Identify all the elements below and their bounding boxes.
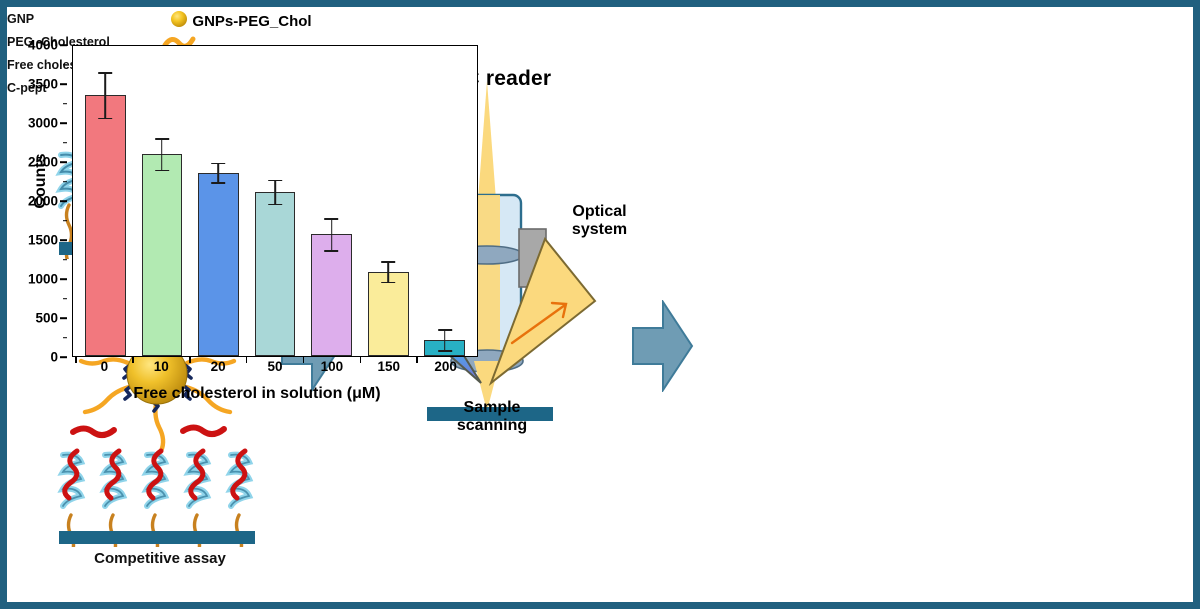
y-tick-mark-minor (63, 337, 67, 339)
y-tick-mark (60, 317, 67, 319)
y-tick-label: 1000 (28, 272, 58, 287)
y-axis-title: Counts (32, 101, 50, 261)
competitive-assay-label: Competitive assay (35, 550, 285, 567)
bar (424, 340, 465, 356)
y-tick-mark (60, 278, 67, 280)
error-bar (161, 138, 163, 171)
y-tick-mark (60, 161, 67, 163)
y-tick-mark (60, 239, 67, 241)
bar (311, 234, 352, 356)
flow-arrow-right (631, 300, 695, 392)
x-tick-label: 50 (247, 359, 304, 374)
substrate-bar (59, 531, 255, 544)
y-tick-label: 0 (50, 350, 58, 365)
chart-title: GNPs-PEG_Chol (7, 13, 497, 30)
bar-slot (360, 46, 417, 356)
error-bar (274, 180, 276, 206)
bar (198, 173, 239, 356)
y-tick-mark-minor (63, 142, 67, 144)
y-tick-label: 500 (35, 311, 58, 326)
free-cholesterol-solution (73, 428, 224, 436)
y-tick-label: 3500 (28, 77, 58, 92)
figure-root: Direct sandwich assay (0, 0, 1200, 609)
error-bar (331, 218, 333, 252)
error-bar (387, 261, 389, 283)
y-tick-mark-minor (63, 259, 67, 261)
sample-scanning-label: Sample scanning (417, 399, 567, 436)
y-tick-mark (60, 122, 67, 124)
bar (85, 95, 126, 356)
y-tick-mark-minor (63, 64, 67, 66)
y-tick-mark-minor (63, 220, 67, 222)
x-axis-title: Free cholesterol in solution (μM) (27, 385, 487, 403)
bar (255, 192, 296, 356)
error-bar (104, 72, 106, 119)
x-tick-label: 20 (190, 359, 247, 374)
error-bar (218, 163, 220, 184)
bar-slot (416, 46, 473, 356)
y-tick-mark-minor (63, 181, 67, 183)
y-tick-mark (60, 44, 67, 46)
bar-slot (190, 46, 247, 356)
bar-slot (134, 46, 191, 356)
y-tick-mark (60, 356, 67, 358)
y-tick-mark-minor (63, 298, 67, 300)
bar (368, 272, 409, 356)
bar (142, 154, 183, 356)
x-tick-label: 100 (303, 359, 360, 374)
x-tick-label: 10 (133, 359, 190, 374)
optical-system-label: Optical system (547, 203, 652, 240)
plot-area (72, 45, 478, 357)
bar-series (73, 46, 477, 356)
bar-slot (247, 46, 304, 356)
bar-slot (77, 46, 134, 356)
y-tick-label: 4000 (28, 38, 58, 53)
y-tick-mark (60, 200, 67, 202)
bar-slot (303, 46, 360, 356)
x-tick-label: 150 (360, 359, 417, 374)
error-bar (444, 329, 446, 352)
y-tick-mark (60, 83, 67, 85)
x-tick-label: 0 (76, 359, 133, 374)
x-axis-tick-labels: 0102050100150200 (72, 359, 478, 374)
y-tick-mark-minor (63, 103, 67, 105)
x-tick-label: 200 (417, 359, 474, 374)
